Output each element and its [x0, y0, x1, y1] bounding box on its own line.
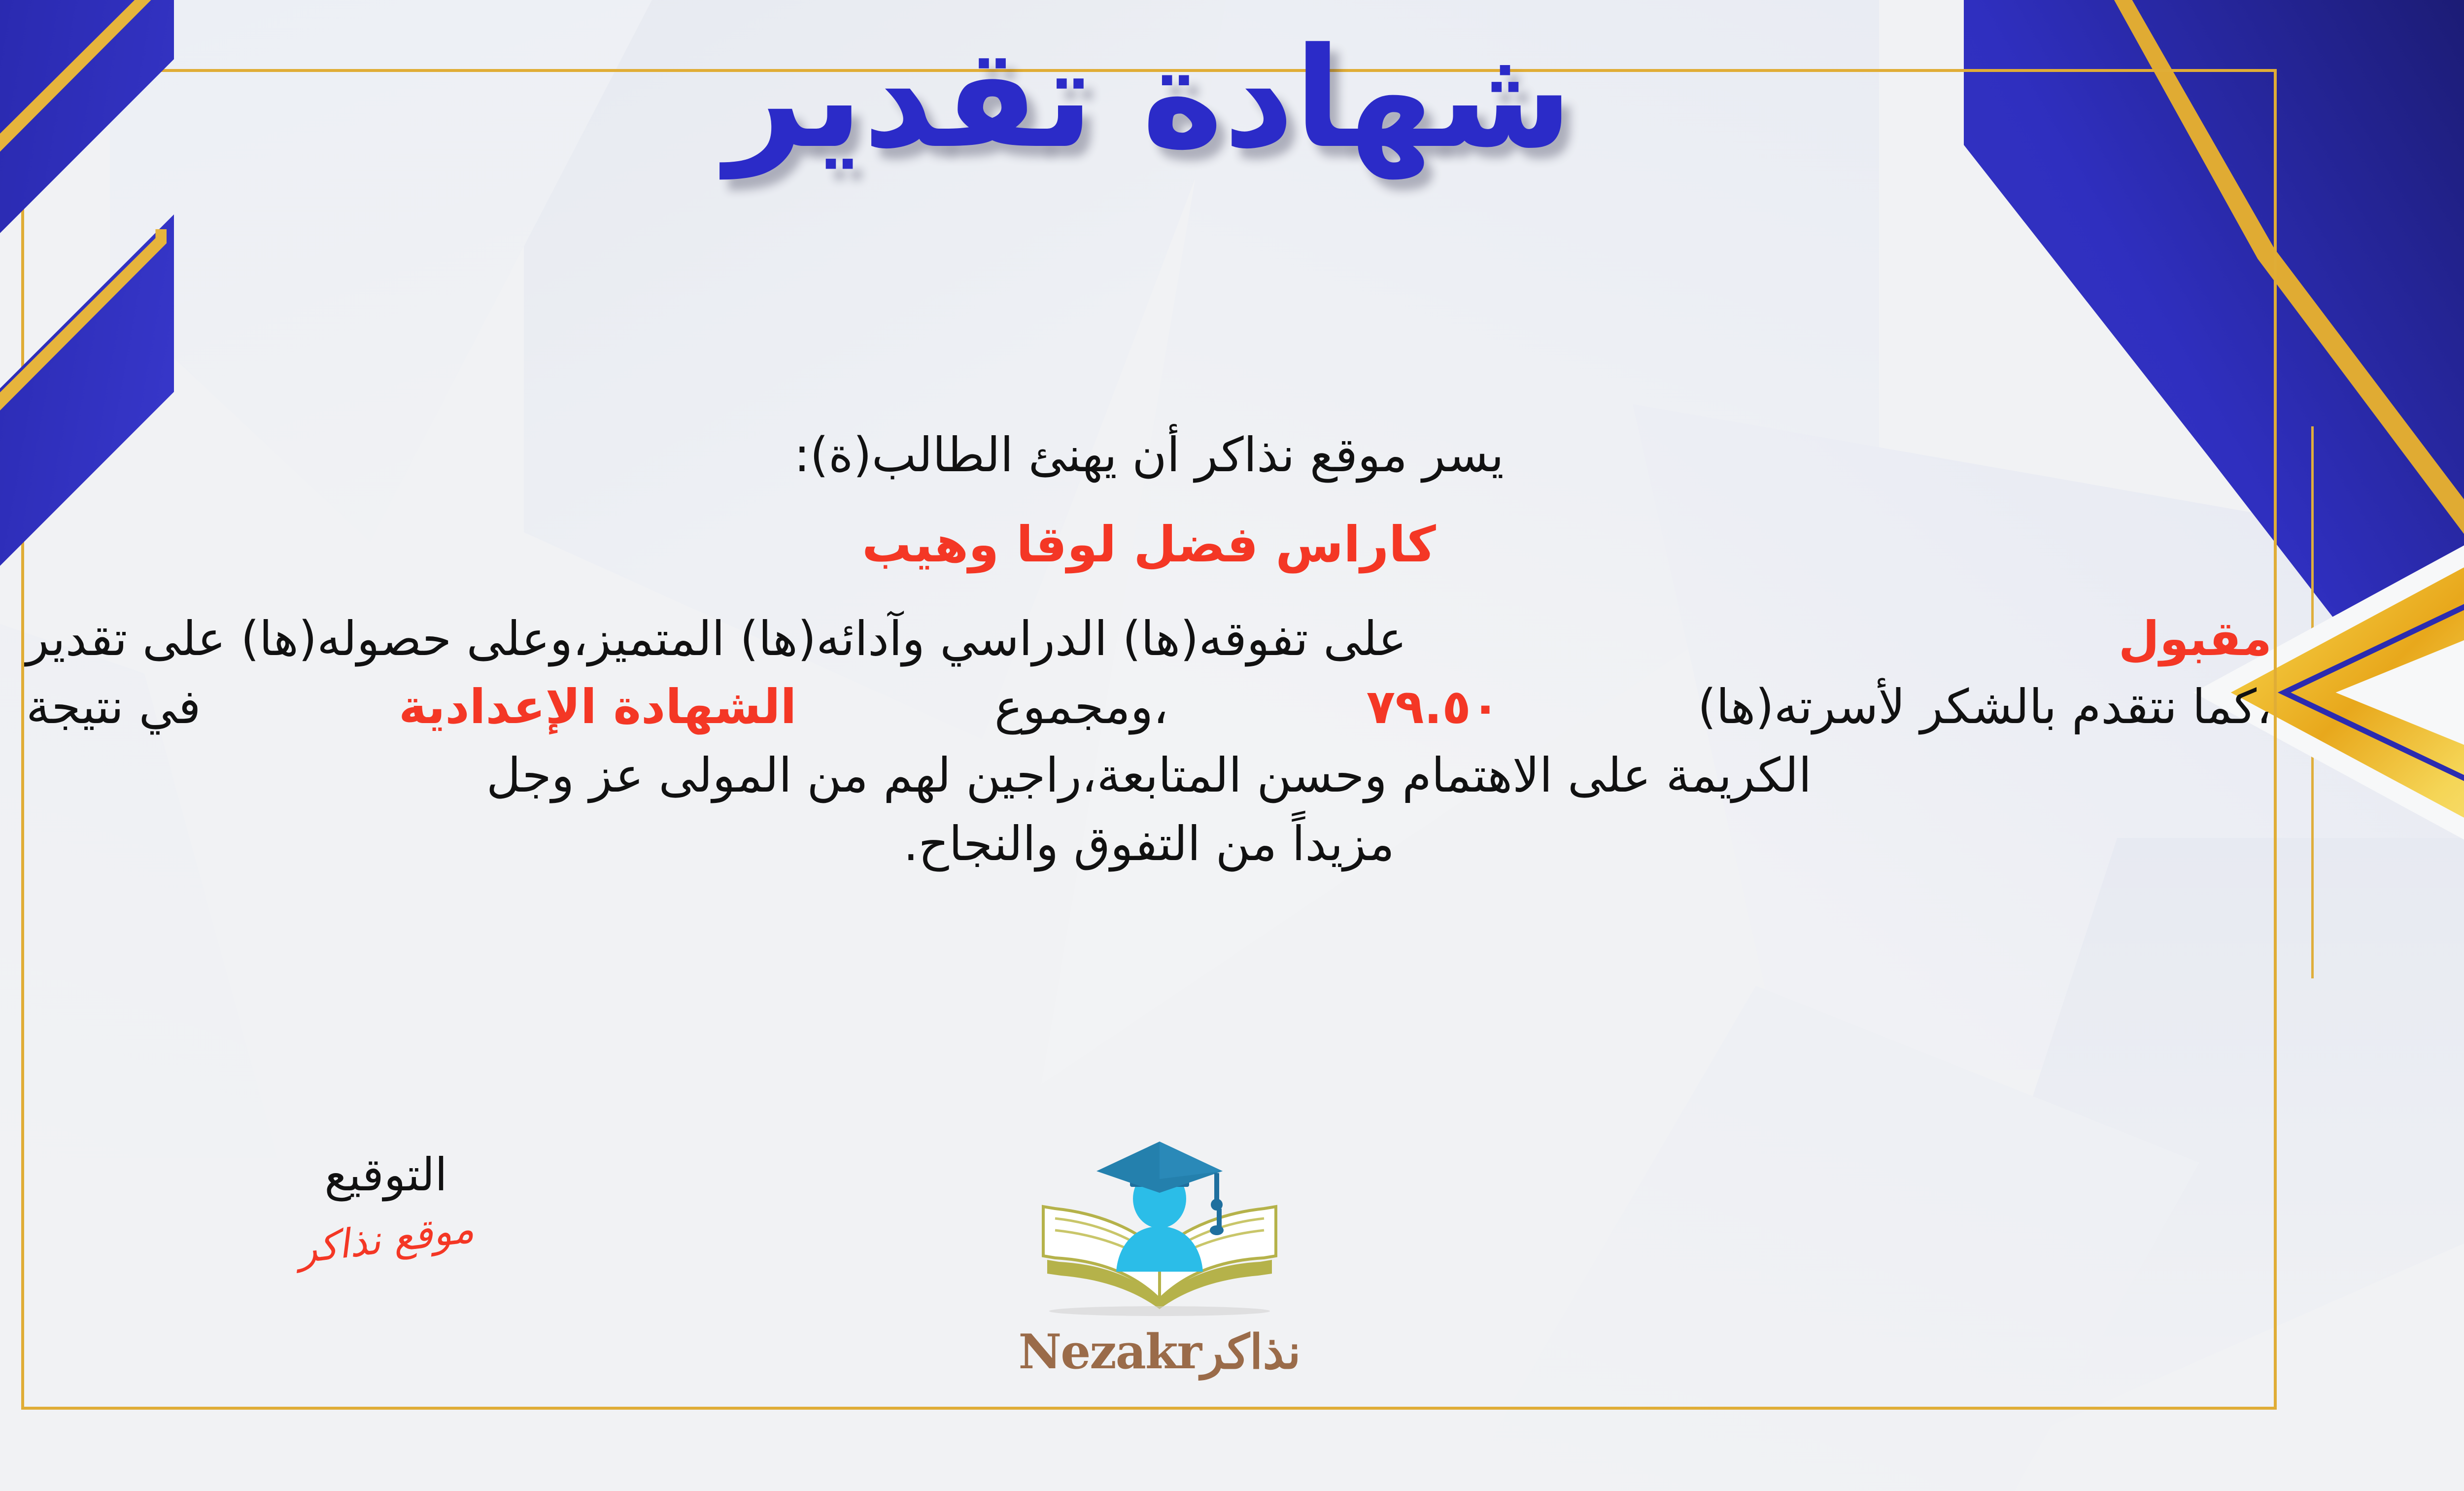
grade-value: مقبول — [2119, 608, 2272, 670]
certificate-body: يسر موقع نذاكر أن يهنئ الطالب(ة): كاراس … — [26, 424, 2272, 881]
graduation-book-icon — [1022, 1134, 1298, 1321]
student-name: كاراس فضل لوقا وهيب — [26, 512, 2272, 577]
result-prefix: في نتيجة — [26, 676, 201, 738]
family-thanks-text: ،كما نتقدم بالشكر لأسرته(ها) — [1698, 676, 2272, 738]
nezakr-logo: نذاكرNezakr — [997, 1134, 1322, 1380]
total-label: ،ومجموع — [994, 676, 1168, 738]
signature-label: التوقيع — [208, 1148, 563, 1201]
certificate-title: شهادة تقدير — [0, 30, 2464, 168]
certificate-canvas: شهادة تقدير يسر موقع نذاكر أن يهنئ الطال… — [0, 0, 2464, 1491]
gratitude-line: الكريمة على الاهتمام وحسن المتابعة،راجين… — [26, 744, 2272, 807]
achievement-text: على تفوقه(ها) الدراسي وآدائه(ها) المتميز… — [26, 608, 1406, 670]
signature-block: التوقيع موقع نذاكر — [208, 1148, 563, 1262]
logo-wordmark: نذاكرNezakr — [997, 1324, 1322, 1380]
total-score: ٧٩.٥٠ — [1367, 676, 1500, 738]
wishes-line: مزيداً من التفوق والنجاح. — [26, 813, 2272, 875]
greeting-line: يسر موقع نذاكر أن يهنئ الطالب(ة): — [26, 424, 2272, 486]
signature-mark: موقع نذاكر — [295, 1205, 477, 1272]
exam-name: الشهادة الإعدادية — [399, 676, 796, 738]
achievement-line: مقبول على تفوقه(ها) الدراسي وآدائه(ها) ا… — [26, 608, 2272, 670]
result-line: ،كما نتقدم بالشكر لأسرته(ها) ٧٩.٥٠ ،ومجم… — [26, 676, 2272, 738]
